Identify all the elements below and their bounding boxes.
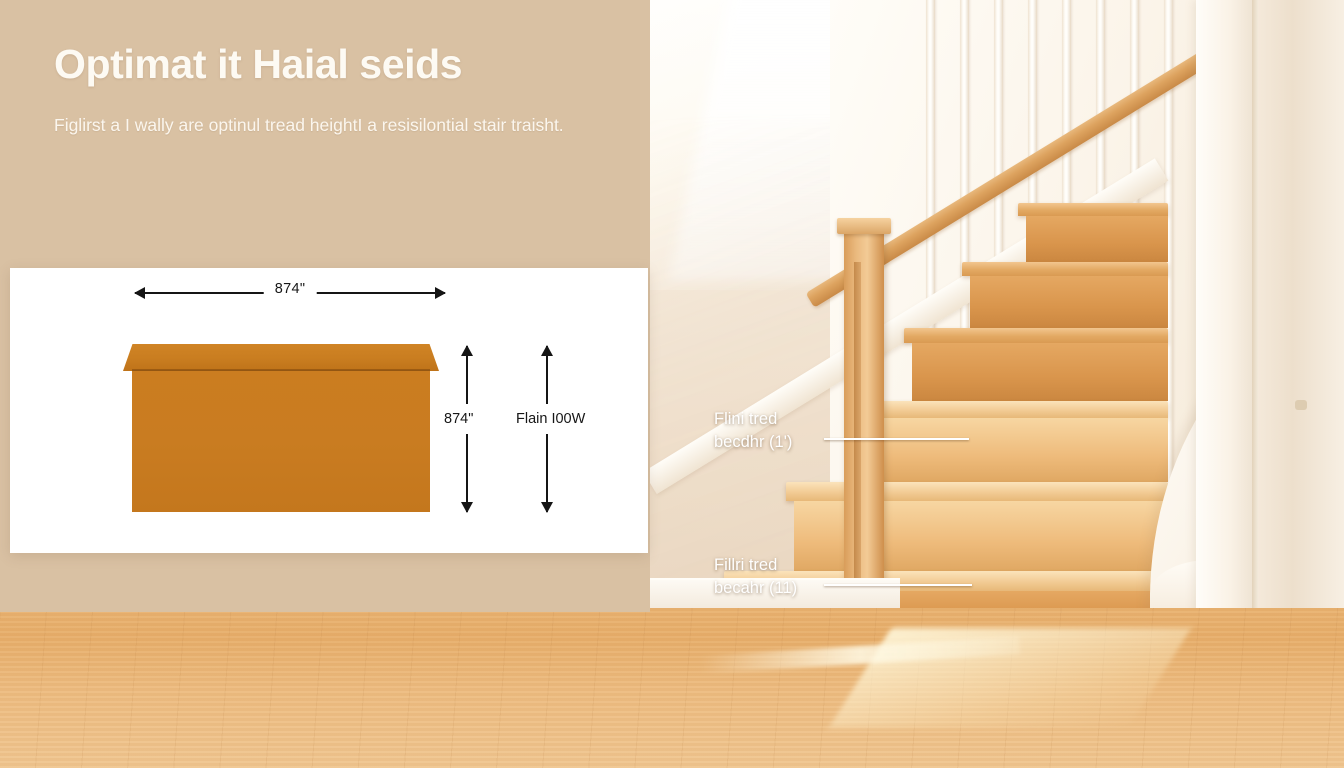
page-title: Optimat it Haial seids xyxy=(54,42,600,87)
callout-line-1: Flini tred xyxy=(714,408,792,431)
tread-surface xyxy=(904,328,1168,343)
riser-face xyxy=(912,343,1168,401)
arrowhead-up-icon xyxy=(461,345,473,356)
tread-surface xyxy=(848,401,1168,418)
upper-tread-callout: Flini tred becdhr (1') xyxy=(714,408,792,454)
page-subtitle: Figlirst a I wally are optinul tread hei… xyxy=(54,111,599,139)
riser-dimension: Flain I00W xyxy=(546,346,548,512)
callout-line-2: becahr (11) xyxy=(714,577,797,600)
lower-tread-callout: Fillri tred becahr (11) xyxy=(714,554,797,600)
callout-line-2: becdhr (1') xyxy=(714,431,792,454)
dimension-label: Flain I00W xyxy=(508,404,593,434)
door-jamb xyxy=(1196,0,1258,660)
overlay-header: Optimat it Haial seids Figlirst a I wall… xyxy=(0,0,600,139)
riser-face xyxy=(856,418,1168,482)
arrowhead-down-icon xyxy=(541,502,553,513)
screenshot-stage: Flini tred becdhr (1') Fillri tred becah… xyxy=(0,0,1344,768)
callout-leader-line xyxy=(824,438,969,440)
door-slab xyxy=(1258,0,1344,700)
tread-block-body xyxy=(132,370,430,512)
arrowhead-left-icon xyxy=(134,287,145,299)
newel-post-groove xyxy=(854,262,861,630)
tread-block-cap xyxy=(123,344,439,371)
arrowhead-down-icon xyxy=(461,502,473,513)
callout-line-1: Fillri tred xyxy=(714,554,797,577)
tread-height-dimension: 874" xyxy=(466,346,468,512)
tread-surface xyxy=(962,262,1168,276)
tread-width-dimension: 874" xyxy=(135,292,445,294)
callout-leader-line xyxy=(824,584,972,586)
tread-surface xyxy=(1018,203,1168,216)
tread-block-nosing-line xyxy=(132,369,430,371)
arrowhead-up-icon xyxy=(541,345,553,356)
riser-face xyxy=(1026,216,1168,262)
newel-post-cap xyxy=(837,218,891,234)
riser-face xyxy=(970,276,1168,328)
door-handle xyxy=(1295,400,1307,410)
arrowhead-right-icon xyxy=(435,287,446,299)
dimension-label: 874" xyxy=(444,404,483,434)
dimension-label: 874" xyxy=(264,281,317,297)
